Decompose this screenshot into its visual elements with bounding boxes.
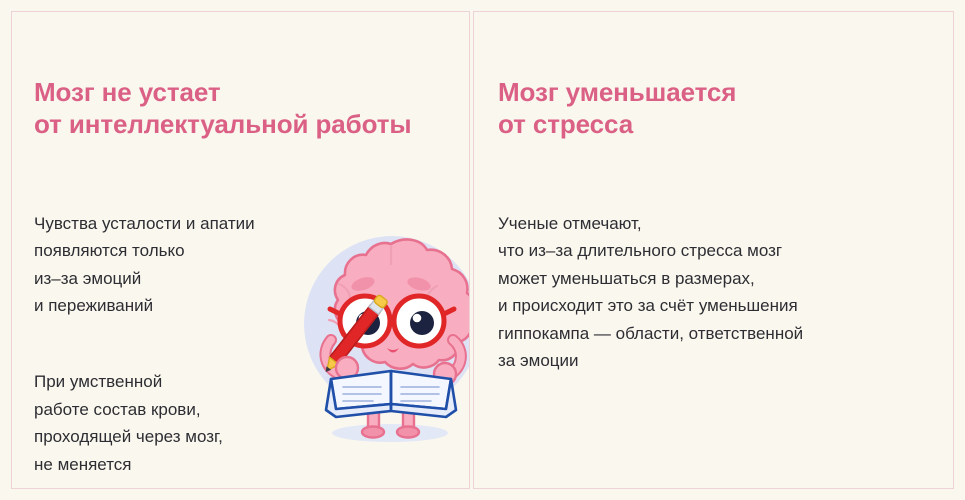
panel-right-paragraph-1: Ученые отмечают, что из–за длительного с… [498, 210, 803, 375]
panel-left-title: Мозг не устает от интеллектуальной работ… [34, 76, 411, 141]
panel-left-paragraph-2: При умственной работе состав крови, прох… [34, 368, 255, 478]
panel-right-title: Мозг уменьшается от стресса [498, 76, 736, 141]
slide-root: Мозг не устает от интеллектуальной работ… [0, 0, 965, 500]
panel-left-body: Чувства усталости и апатии появляются то… [34, 182, 255, 489]
panel-left-paragraph-1: Чувства усталости и апатии появляются то… [34, 210, 255, 320]
glasses-icon [330, 296, 454, 346]
panel-right-body: Ученые отмечают, что из–за длительного с… [498, 182, 803, 402]
brain-student-illustration [295, 228, 470, 450]
panel-left: Мозг не устает от интеллектуальной работ… [11, 11, 470, 489]
pencil-icon [321, 294, 388, 375]
panel-right: Мозг уменьшается от стресса Ученые отмеч… [473, 11, 954, 489]
book-icon [326, 371, 456, 417]
